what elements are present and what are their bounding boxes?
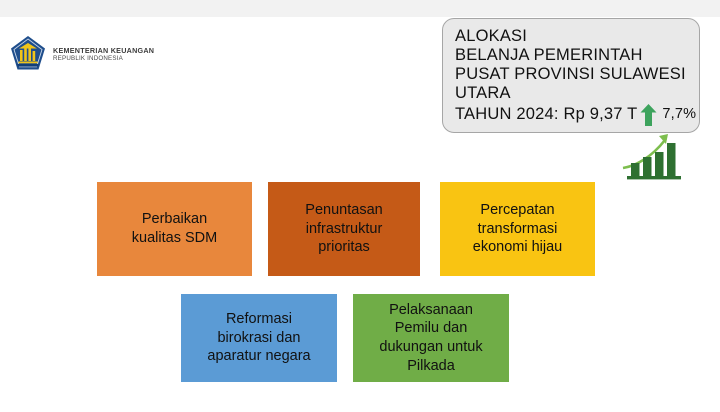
callout-amount-row: TAHUN 2024: Rp 9,37 T 7,7% bbox=[455, 104, 689, 126]
pillar-label: PelaksanaanPemilu dandukungan untukPilka… bbox=[379, 301, 482, 375]
up-arrow-icon bbox=[640, 104, 657, 126]
pillar-label: Perbaikankualitas SDM bbox=[132, 210, 217, 247]
callout-line-2: BELANJA PEMERINTAH bbox=[455, 46, 689, 65]
allocation-callout-text: ALOKASI BELANJA PEMERINTAH PUSAT PROVINS… bbox=[455, 27, 689, 126]
pillar-box-percepatan-transformasi-ekonomi-hijau[interactable]: Percepatantransformasiekonomi hijau bbox=[440, 182, 595, 276]
ministry-country: REPUBLIK INDONESIA bbox=[53, 55, 154, 63]
callout-line-1: ALOKASI bbox=[455, 27, 689, 46]
callout-line-4: UTARA bbox=[455, 84, 689, 103]
pillar-box-pelaksanaan-pemilu-pilkada[interactable]: PelaksanaanPemilu dandukungan untukPilka… bbox=[353, 294, 509, 382]
top-background-band bbox=[0, 0, 720, 17]
pillar-label: Percepatantransformasiekonomi hijau bbox=[473, 201, 562, 257]
callout-line-3: PUSAT PROVINSI SULAWESI bbox=[455, 65, 689, 84]
pillar-box-perbaikan-kualitas-sdm[interactable]: Perbaikankualitas SDM bbox=[97, 182, 252, 276]
ministry-brand-lockup: KEMENTERIAN KEUANGAN REPUBLIK INDONESIA bbox=[10, 30, 190, 78]
pillar-label: Penuntasaninfrastrukturprioritas bbox=[305, 201, 382, 257]
growth-percentage: 7,7% bbox=[662, 106, 696, 123]
callout-amount: TAHUN 2024: Rp 9,37 T bbox=[455, 105, 637, 124]
kemenkeu-shield-emblem-icon bbox=[10, 35, 46, 73]
ministry-name: KEMENTERIAN KEUANGAN bbox=[53, 46, 154, 55]
allocation-callout-box: ALOKASI BELANJA PEMERINTAH PUSAT PROVINS… bbox=[442, 18, 700, 133]
pillar-box-penuntasan-infrastruktur-prioritas[interactable]: Penuntasaninfrastrukturprioritas bbox=[268, 182, 420, 276]
ministry-brand-text: KEMENTERIAN KEUANGAN REPUBLIK INDONESIA bbox=[53, 46, 154, 63]
growth-bar-chart-icon bbox=[621, 130, 695, 182]
pillar-box-reformasi-birokrasi-aparatur-negara[interactable]: Reformasibirokrasi danaparatur negara bbox=[181, 294, 337, 382]
pillar-label: Reformasibirokrasi danaparatur negara bbox=[207, 310, 310, 366]
